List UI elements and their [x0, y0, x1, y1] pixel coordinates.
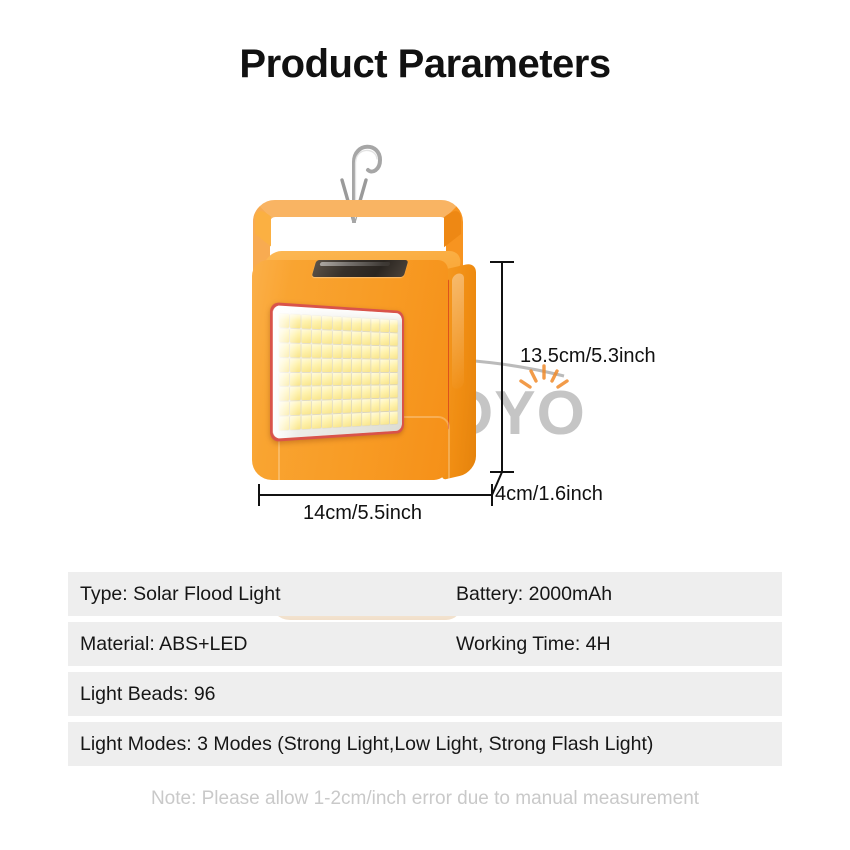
spec-light-beads-label: Light Beads: 96 — [68, 683, 216, 706]
page-title: Product Parameters — [0, 42, 850, 87]
dimension-annotations: 13.5cm/5.3inch 4cm/1.6inch 14cm/5.5inch — [0, 110, 850, 550]
height-dimension-line — [490, 262, 514, 472]
spec-light-modes-label: Light Modes: 3 Modes (Strong Light,Low L… — [68, 733, 653, 756]
table-row: Material: ABS+LED Working Time: 4H — [68, 622, 782, 666]
table-row: Light Modes: 3 Modes (Strong Light,Low L… — [68, 722, 782, 766]
spec-table: Type: Solar Flood Light Battery: 2000mAh… — [68, 572, 782, 772]
spec-type-label: Type: Solar Flood Light — [68, 583, 456, 606]
table-row: Light Beads: 96 — [68, 672, 782, 716]
spec-battery-label: Battery: 2000mAh — [456, 583, 612, 606]
measurement-note: Note: Please allow 1-2cm/inch error due … — [0, 788, 850, 810]
width-dimension-label: 14cm/5.5inch — [303, 502, 422, 525]
product-illustration: AJUOYO — [0, 110, 850, 550]
height-dimension-label: 13.5cm/5.3inch — [520, 345, 656, 368]
spec-material-label: Material: ABS+LED — [68, 633, 456, 656]
spec-working-time-label: Working Time: 4H — [456, 633, 611, 656]
dimension-lines-svg — [0, 110, 850, 550]
table-row: Type: Solar Flood Light Battery: 2000mAh — [68, 572, 782, 616]
depth-dimension-label: 4cm/1.6inch — [495, 483, 603, 506]
